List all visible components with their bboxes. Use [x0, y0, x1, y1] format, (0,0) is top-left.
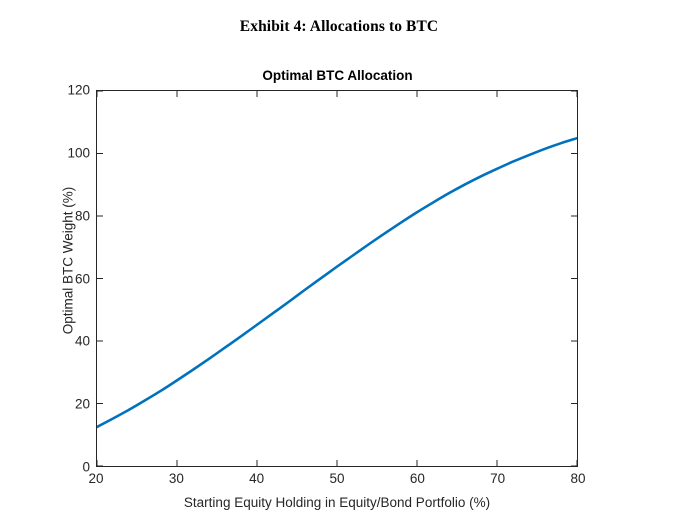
x-tick-label: 30: [146, 471, 206, 486]
exhibit-title: Exhibit 4: Allocations to BTC: [0, 18, 678, 36]
chart-title: Optimal BTC Allocation: [96, 68, 579, 83]
x-tick-label: 70: [468, 471, 528, 486]
x-tick-label: 60: [387, 471, 447, 486]
y-tick-label: 120: [50, 83, 90, 98]
x-tick-label: 20: [66, 471, 126, 486]
plot-svg: [97, 91, 577, 466]
axis-tick-marks: [97, 91, 577, 466]
x-axis-label: Starting Equity Holding in Equity/Bond P…: [96, 495, 578, 510]
figure-canvas: Exhibit 4: Allocations to BTC Optimal BT…: [0, 0, 678, 530]
y-axis-label: Optimal BTC Weight (%): [61, 101, 76, 421]
series-line-optimal-btc-weight: [97, 138, 577, 427]
x-axis-tick-labels: 20304050607080: [96, 471, 578, 491]
x-tick-label: 50: [307, 471, 367, 486]
plot-area: [96, 90, 578, 467]
x-tick-label: 80: [548, 471, 608, 486]
x-tick-label: 40: [227, 471, 287, 486]
